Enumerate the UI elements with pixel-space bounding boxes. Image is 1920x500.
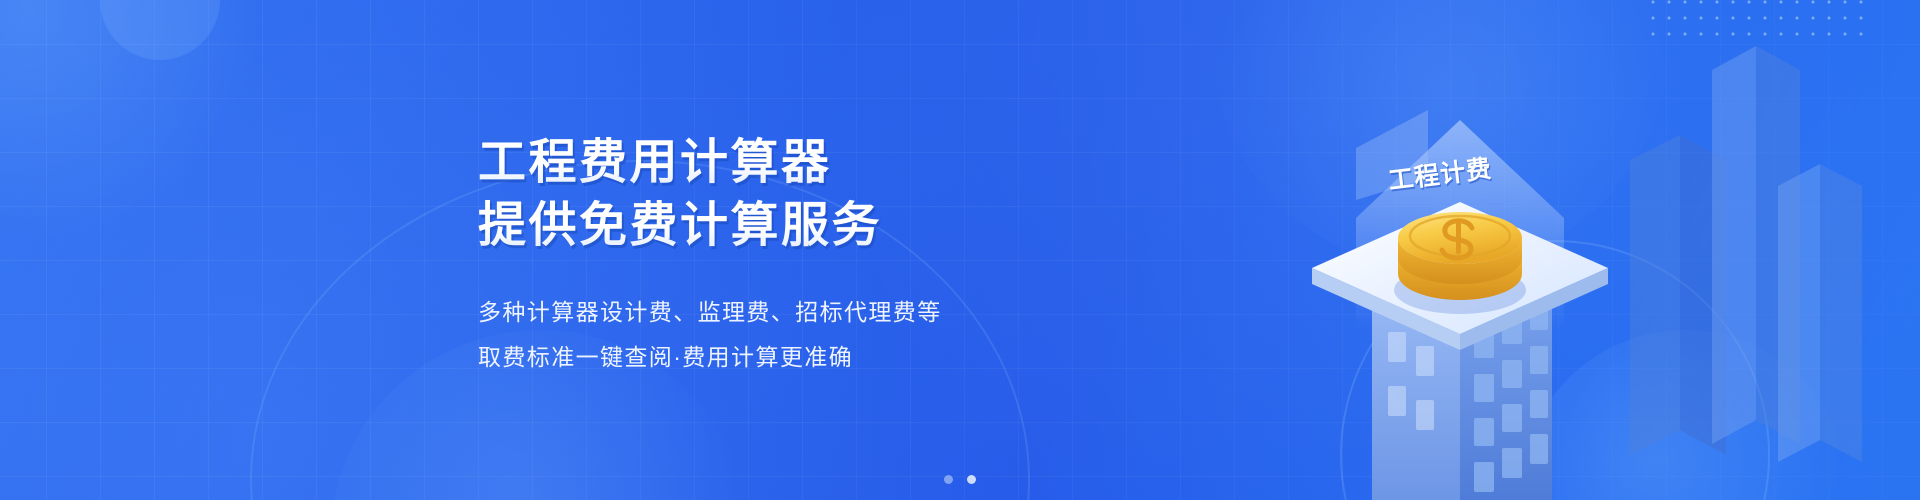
subtitle-line-1: 多种计算器设计费、监理费、招标代理费等 bbox=[478, 290, 1118, 335]
coin-stack bbox=[1394, 212, 1526, 314]
hero-banner: 工程费用计算器 提供免费计算服务 多种计算器设计费、监理费、招标代理费等 取费标… bbox=[0, 0, 1920, 500]
dot-matrix-decoration bbox=[1645, 0, 1865, 40]
carousel-dot-2[interactable] bbox=[967, 475, 976, 484]
skyline-bars bbox=[1630, 46, 1862, 462]
banner-illustration: 工程计费 bbox=[1160, 0, 1920, 500]
decorative-ring bbox=[1340, 240, 1770, 500]
decorative-blob-bottom-right bbox=[1520, 330, 1850, 500]
badge-backing bbox=[1356, 110, 1428, 200]
carousel-dot-1[interactable] bbox=[944, 475, 953, 484]
dollar-sign-icon bbox=[1442, 220, 1472, 258]
light-glow bbox=[1356, 120, 1564, 330]
decorative-blob-top-left bbox=[0, 0, 270, 250]
carousel-dots[interactable] bbox=[944, 475, 976, 484]
decorative-circle-small bbox=[100, 0, 220, 60]
subtitle-line-2: 取费标准一键查阅·费用计算更准确 bbox=[478, 335, 1118, 380]
illustration-badge-label: 工程计费 bbox=[1386, 149, 1494, 197]
decorative-blob-top-right bbox=[1210, 0, 1670, 270]
headline-line-2: 提供免费计算服务 bbox=[478, 194, 1118, 257]
illustration-svg bbox=[1160, 0, 1920, 500]
platform-slab bbox=[1312, 202, 1608, 350]
main-tower bbox=[1372, 266, 1552, 500]
banner-copy: 工程费用计算器 提供免费计算服务 多种计算器设计费、监理费、招标代理费等 取费标… bbox=[478, 131, 1118, 380]
headline-line-1: 工程费用计算器 bbox=[478, 131, 1118, 194]
